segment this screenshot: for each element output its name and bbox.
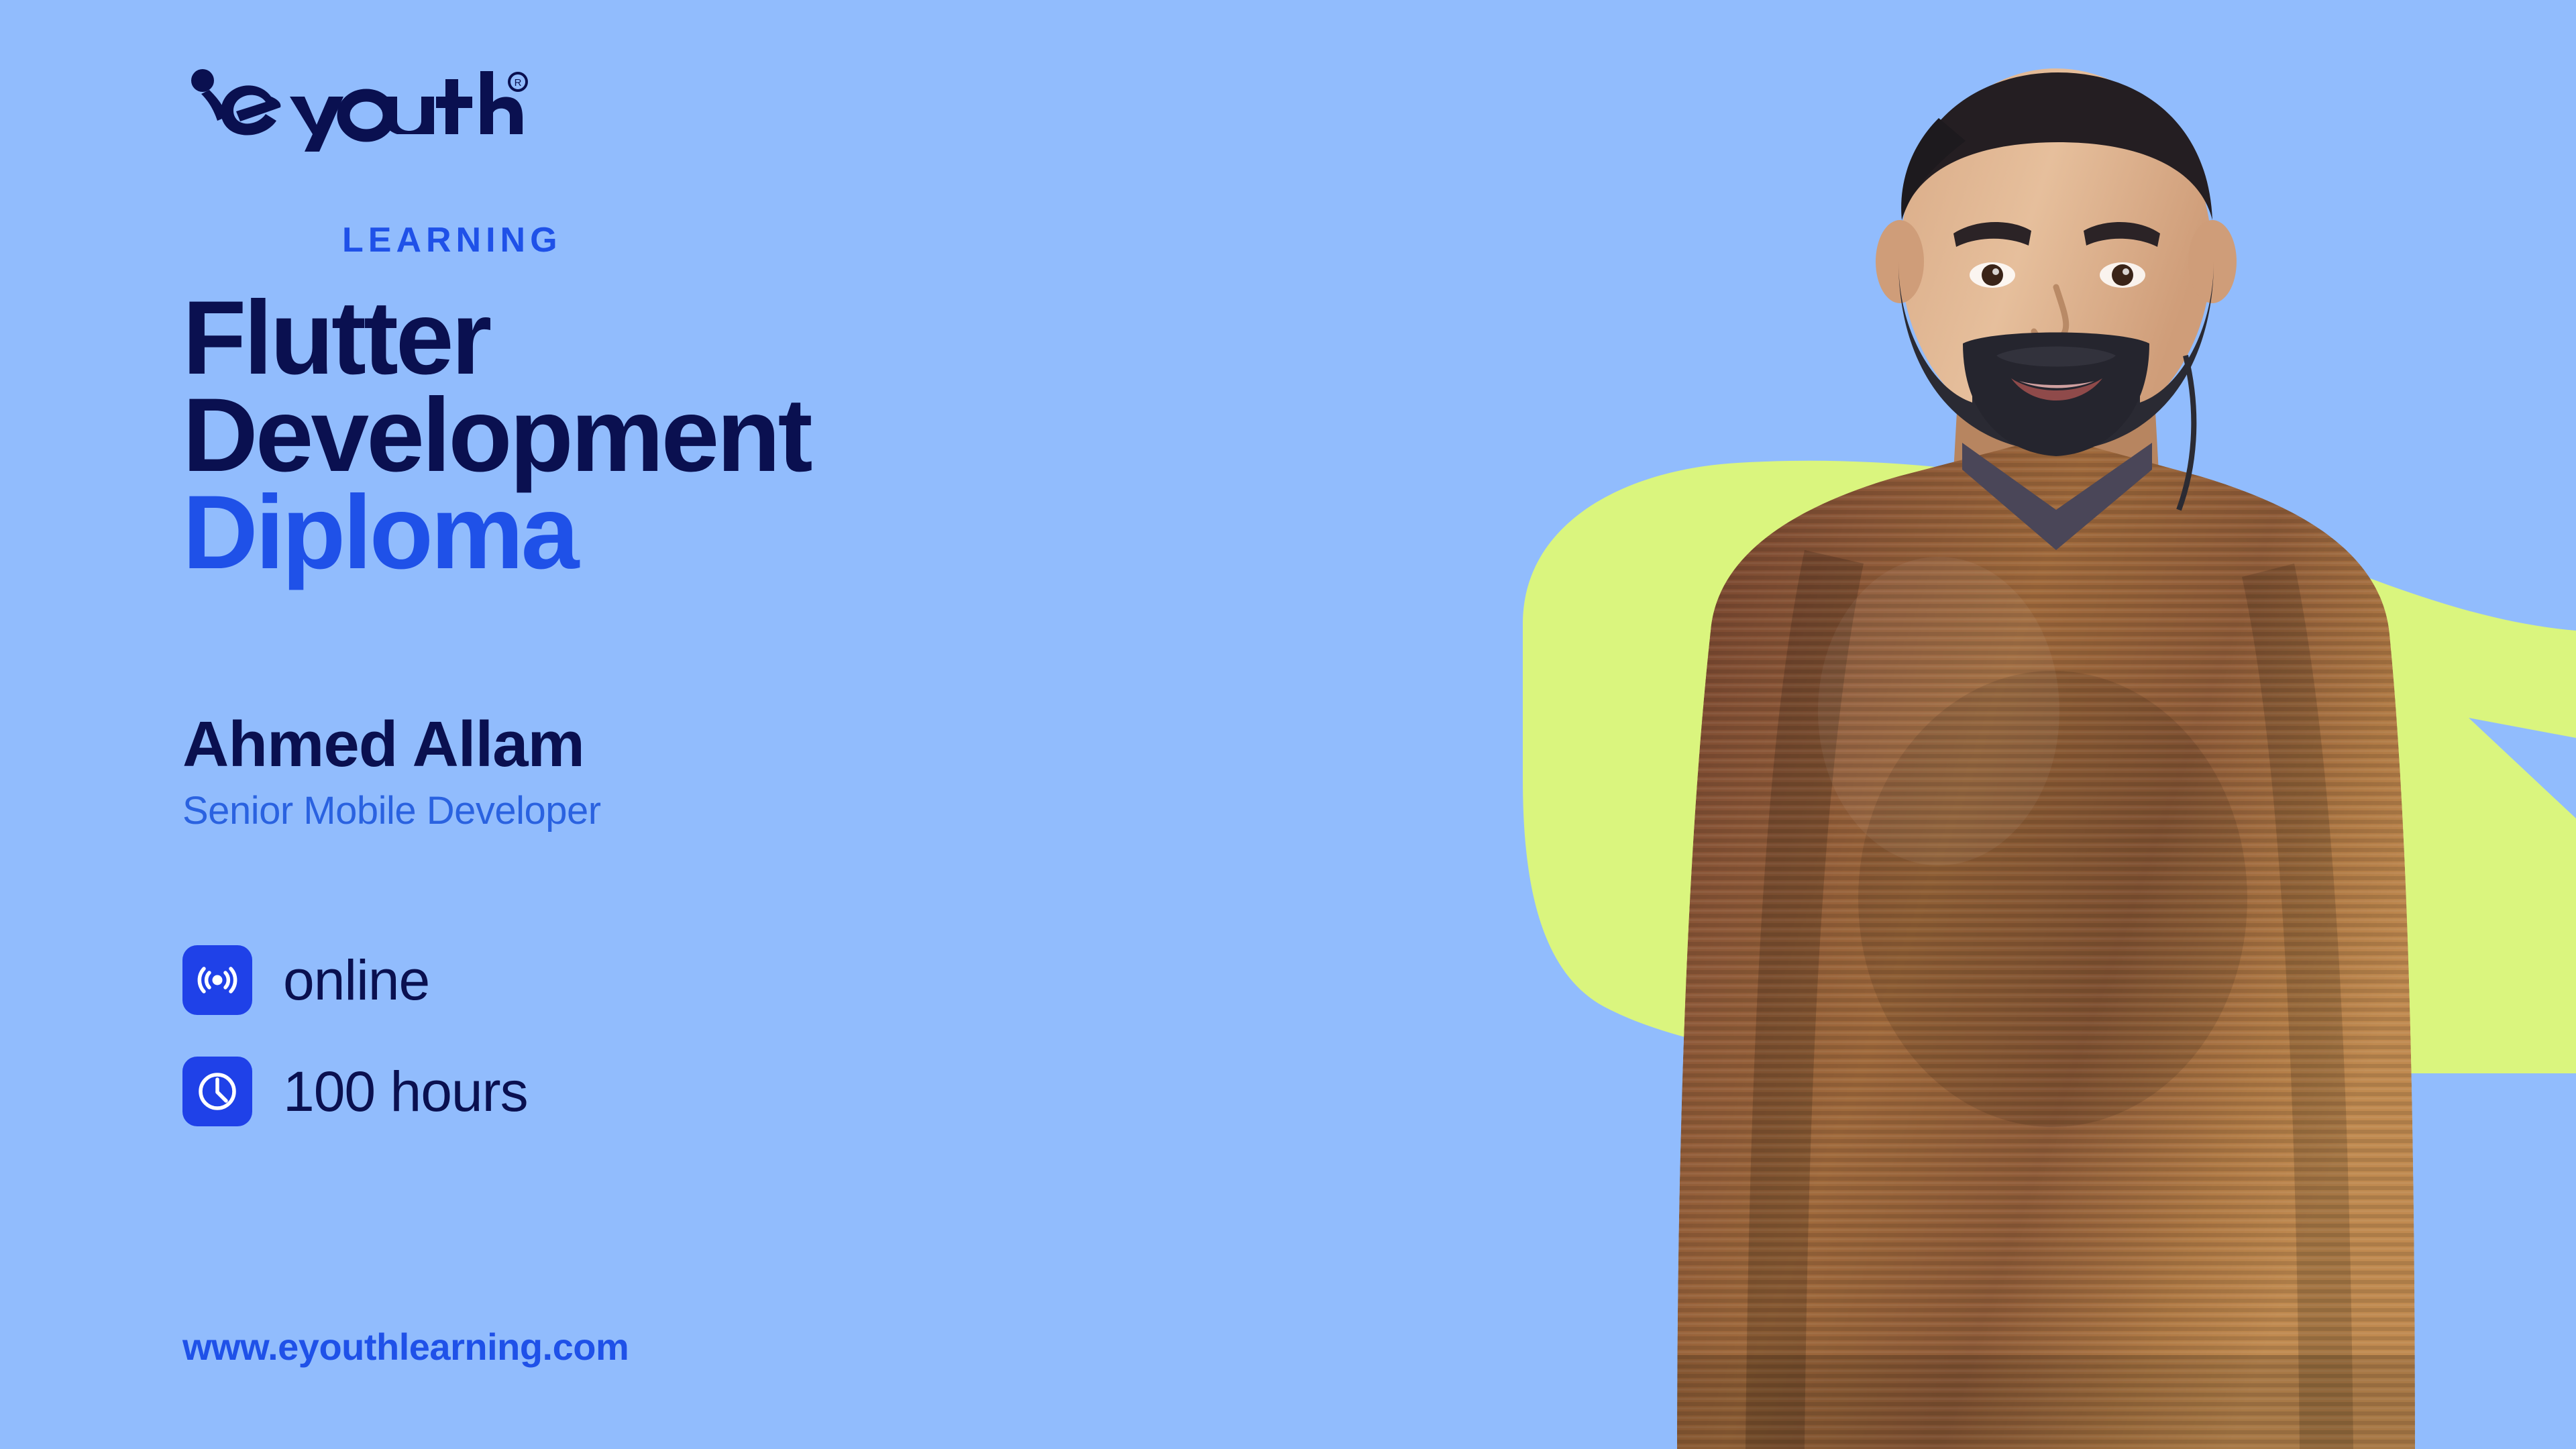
- instructor-photo: [1429, 40, 2516, 1449]
- instructor-block: Ahmed Allam Senior Mobile Developer: [182, 711, 601, 833]
- title-line-1: Flutter: [182, 290, 810, 387]
- brand-logo[interactable]: R LEARNING: [182, 59, 545, 193]
- website-url[interactable]: www.eyouthlearning.com: [182, 1325, 629, 1368]
- green-accent-shape: [1422, 402, 2576, 1073]
- instructor-name: Ahmed Allam: [182, 711, 601, 779]
- logo-subtitle: LEARNING: [342, 223, 562, 258]
- meta-item-duration: 100 hours: [182, 1051, 528, 1132]
- meta-label-duration: 100 hours: [283, 1063, 528, 1120]
- meta-item-online: online: [182, 939, 528, 1021]
- svg-text:R: R: [515, 77, 522, 89]
- meta-label-online: online: [283, 952, 429, 1008]
- course-meta-list: online 100 hours: [182, 939, 528, 1162]
- title-line-3: Diploma: [182, 484, 810, 582]
- course-title: Flutter Development Diploma: [182, 290, 810, 582]
- instructor-role: Senior Mobile Developer: [182, 790, 601, 833]
- broadcast-live-icon: [182, 945, 252, 1015]
- title-line-2: Development: [182, 387, 810, 484]
- eyouth-logo-icon: R: [182, 59, 531, 153]
- course-promo-card: R LEARNING Flutter Development Diploma A…: [0, 0, 2576, 1449]
- clock-icon: [182, 1057, 252, 1126]
